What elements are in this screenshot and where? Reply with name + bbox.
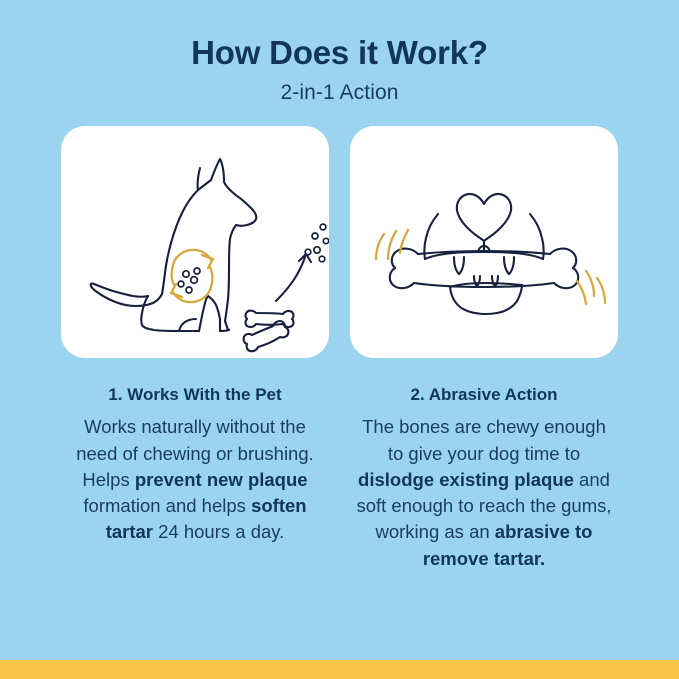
gold-circular-arrow-top [172,250,213,285]
motion-lines-left [376,230,408,259]
column-abrasive-action: 2. Abrasive Action The bones are chewy e… [350,126,618,572]
rising-bubbles [305,224,328,262]
column-body-2: The bones are chewy enough to give your … [355,414,613,572]
bone-horizontal [246,311,294,327]
gold-circular-arrow-bottom [171,267,212,302]
page-subtitle: 2-in-1 Action [0,81,679,105]
column-body-1: Works naturally without the need of chew… [66,414,324,545]
dog-mouth-illustration [350,126,618,358]
illustration-card-sitting-dog [61,126,329,358]
stomach-bubbles [178,268,200,293]
illustration-card-dog-mouth [350,126,618,358]
columns-container: 1. Works With the Pet Works naturally wi… [0,126,679,572]
column-heading-2: 2. Abrasive Action [410,385,557,405]
column-works-with-the-pet: 1. Works With the Pet Works naturally wi… [61,126,329,572]
bones-to-bubbles-arrow [276,254,311,301]
page-title: How Does it Work? [0,34,679,72]
bottom-accent-bar [0,660,679,679]
column-heading-1: 1. Works With the Pet [108,385,281,405]
sitting-dog-illustration [61,126,329,358]
header: How Does it Work? 2-in-1 Action [0,0,679,105]
infographic-page: How Does it Work? 2-in-1 Action [0,0,679,679]
motion-lines-right [577,271,605,304]
